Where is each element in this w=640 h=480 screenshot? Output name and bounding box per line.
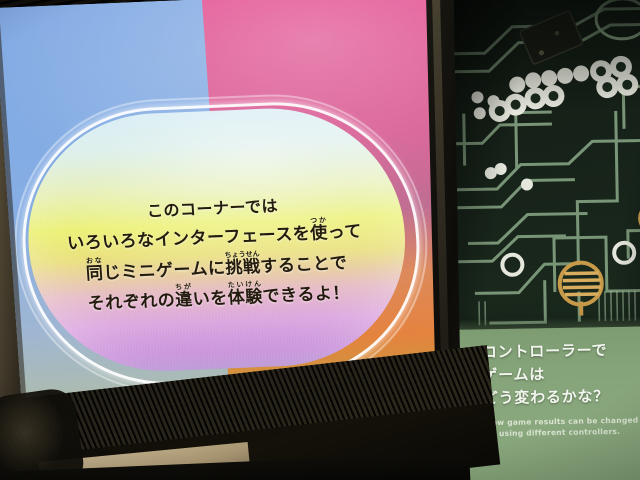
screen-message-text: このコーナーでは いろいろなインターフェースを使つかって 同おなじミニゲームに挑… (8, 188, 424, 320)
panel-title-line-2: ゲームは (482, 361, 640, 387)
panel-title-line-1: コントローラーで (482, 338, 640, 364)
exhibit-photo-scene: このコーナーでは いろいろなインターフェースを使つかって 同おなじミニゲームに挑… (0, 0, 640, 480)
panel-title-line-3: どう変わるかな？ (483, 384, 640, 410)
panel-subtitle: How game results can be changed by using… (485, 414, 640, 439)
panel-title: コントローラーで ゲームは どう変わるかな？ (482, 338, 640, 409)
panel-top-shadow (454, 0, 640, 114)
